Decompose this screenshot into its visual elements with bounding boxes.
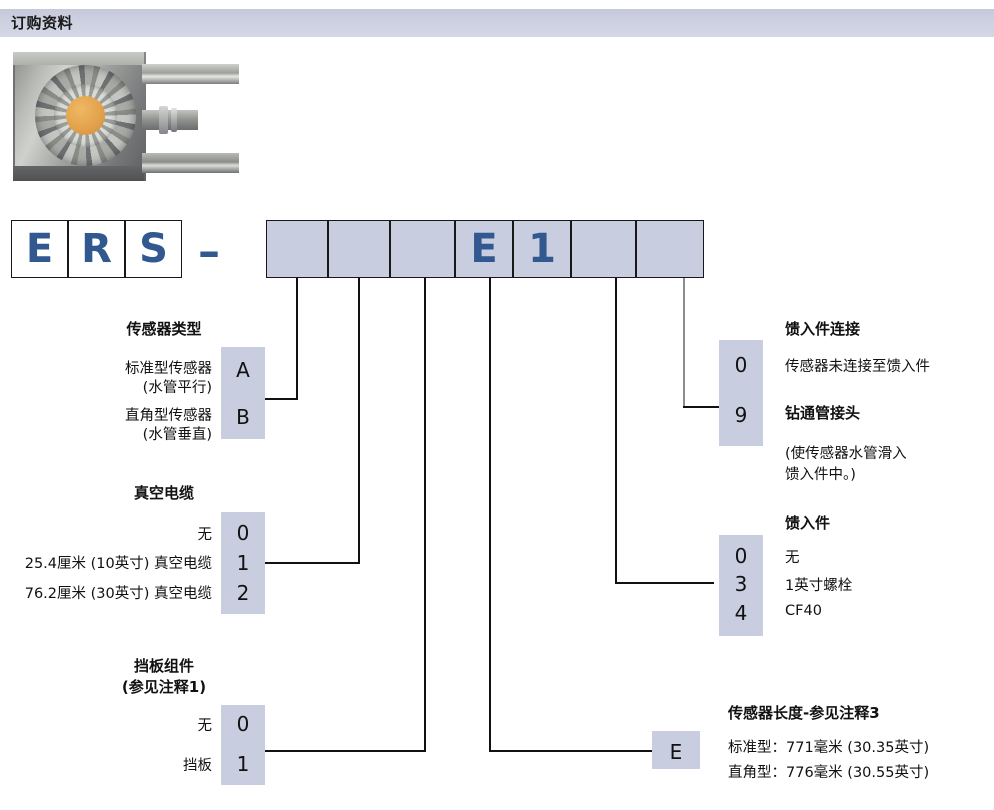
sensor-type-code-b: B (221, 405, 265, 429)
sensor-type-code-a: A (221, 358, 265, 382)
connector-baffle-vertical (424, 278, 426, 751)
feedthrough-connection-note-line2: 馈入件中。) (785, 463, 856, 484)
sensor-length-code-e: E (652, 740, 700, 764)
code-slot-box-7[interactable] (636, 220, 704, 278)
feedthrough-connection-code-0: 0 (719, 353, 763, 377)
group-title-feedthrough: 馈入件 (785, 512, 830, 533)
group-title-sensor-type: 传感器类型 (96, 318, 232, 339)
feedthrough-connection-desc-9: 钻通管接头 (785, 402, 860, 423)
baffle-desc-1: 挡板 (20, 754, 212, 775)
vacuum-cable-desc-2: 76.2厘米 (30英寸) 真空电缆 (4, 582, 212, 603)
baffle-code-1: 1 (221, 752, 265, 776)
code-slot-box-1[interactable] (266, 220, 328, 278)
code-slot-box-2[interactable] (328, 220, 390, 278)
code-prefix-box-3[interactable]: S (125, 220, 182, 278)
water-tube-bottom (142, 153, 239, 173)
group-title-sensor-length: 传感器长度-参见注释3 (728, 702, 880, 723)
section-header-bar (0, 9, 994, 37)
sensor-type-desc-b-line2: (水管垂直) (20, 423, 212, 444)
sensor-block-top-edge (13, 52, 144, 65)
feedthrough-connection-note-line1: (使传感器水管滑入 (785, 442, 907, 463)
feedthrough-desc-4: CF40 (785, 603, 822, 619)
code-prefix-box-2[interactable]: R (68, 220, 125, 278)
sensor-block-bottom-edge (13, 166, 144, 181)
group-title-baffle-line2: (参见注释1) (96, 676, 232, 697)
code-prefix-box-1[interactable]: E (11, 220, 68, 278)
feedthrough-code-0: 0 (719, 544, 763, 568)
feedthrough-desc-0: 无 (785, 546, 800, 567)
feedthrough-desc-3: 1英寸螺栓 (785, 574, 852, 595)
code-slot-box-3[interactable] (390, 220, 455, 278)
product-photo (11, 48, 239, 188)
connector-sensor-length-horizontal (489, 750, 652, 752)
connector-baffle-horizontal (264, 750, 426, 752)
baffle-desc-0: 无 (20, 714, 212, 735)
connector-feedthrough-connection-vertical (683, 278, 685, 408)
vacuum-cable-code-0: 0 (221, 521, 265, 545)
connector-feedthrough-connection-horizontal (683, 406, 719, 408)
feedthrough-connection-code-9: 9 (719, 403, 763, 427)
connector-ring-inner (171, 108, 177, 132)
sensor-length-desc-line2: 直角型：776毫米 (30.55英寸) (728, 761, 929, 782)
water-tube-top (142, 64, 239, 84)
connector-sensor-type-horizontal (264, 398, 298, 400)
connector-ring-outer (159, 106, 168, 134)
page-title: 订购资料 (11, 12, 73, 33)
baffle-code-0: 0 (221, 712, 265, 736)
code-separator-dash: – (198, 230, 220, 274)
sensor-length-desc-line1: 标准型：771毫米 (30.35英寸) (728, 736, 929, 757)
vacuum-cable-code-1: 1 (221, 551, 265, 575)
connector-vacuum-cable-vertical (358, 278, 360, 563)
connector-sensor-type-vertical (296, 278, 298, 400)
sensor-type-desc-a-line2: (水管平行) (20, 376, 212, 397)
sensor-type-desc-a-line1: 标准型传感器 (20, 357, 212, 378)
cable-connector-stub (142, 110, 198, 130)
connector-feedthrough-vertical (615, 278, 617, 584)
vacuum-cable-desc-1: 25.4厘米 (10英寸) 真空电缆 (4, 552, 212, 573)
feedthrough-code-4: 4 (719, 601, 763, 625)
group-title-feedthrough-connection: 馈入件连接 (785, 318, 860, 339)
vacuum-cable-code-2: 2 (221, 581, 265, 605)
feedthrough-connection-desc-0: 传感器未连接至馈入件 (785, 355, 930, 376)
vacuum-cable-desc-0: 无 (4, 523, 212, 544)
code-slot-box-6[interactable] (571, 220, 636, 278)
connector-sensor-length-vertical (489, 278, 491, 751)
feedthrough-code-3: 3 (719, 572, 763, 596)
connector-feedthrough-horizontal (615, 582, 714, 584)
code-slot-box-5[interactable]: 1 (513, 220, 571, 278)
code-slot-box-4[interactable]: E (455, 220, 513, 278)
sensor-disc-core (66, 96, 105, 135)
sensor-type-desc-b-line1: 直角型传感器 (20, 404, 212, 425)
group-title-vacuum-cable: 真空电缆 (96, 482, 232, 503)
group-title-baffle-line1: 挡板组件 (96, 655, 232, 676)
connector-vacuum-cable-horizontal (264, 562, 360, 564)
